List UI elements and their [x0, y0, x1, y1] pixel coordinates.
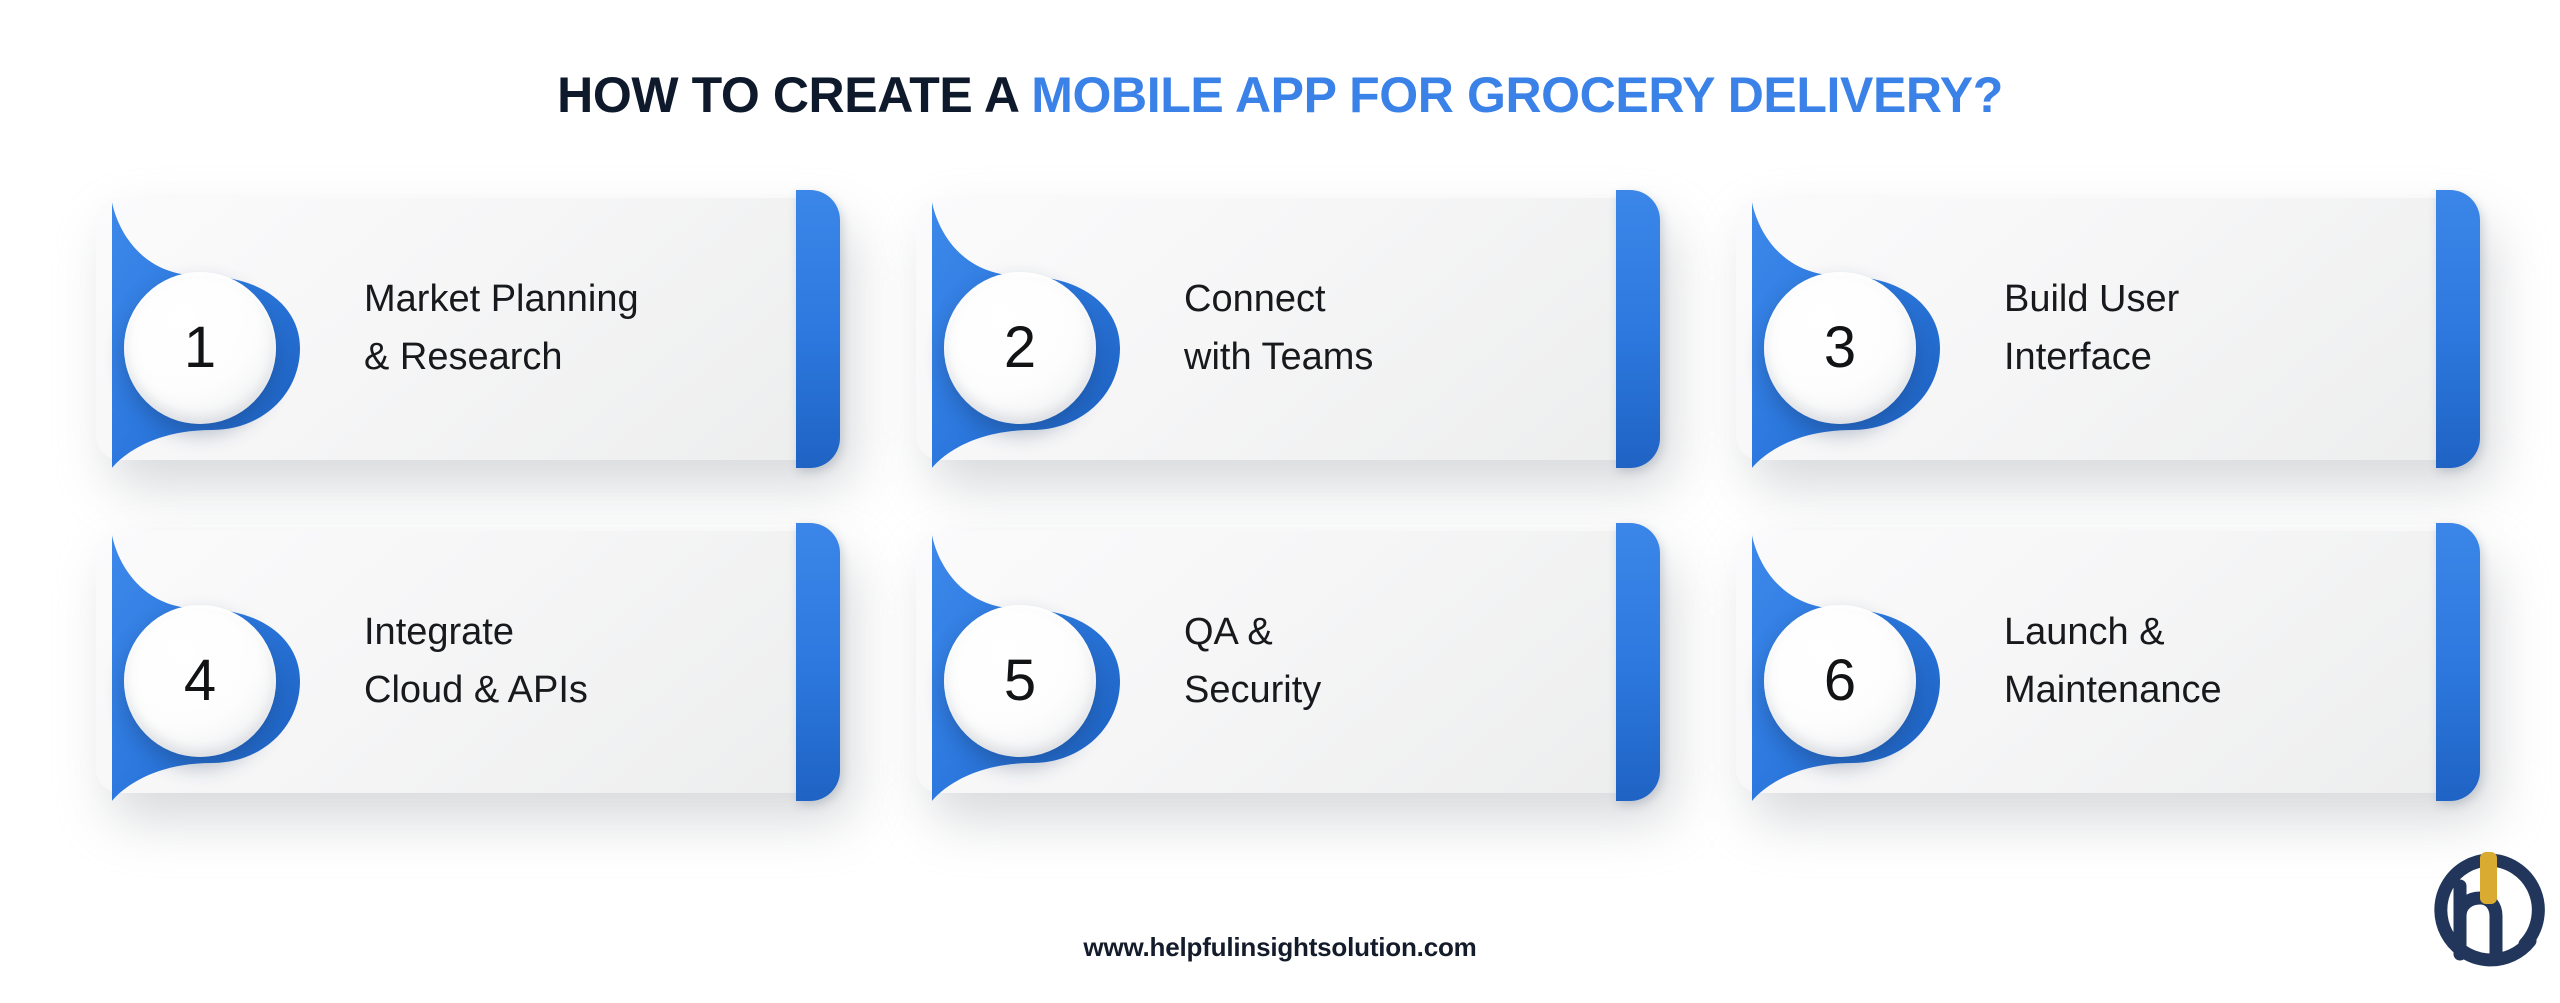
page-title-dark-part: HOW TO CREATE A [557, 67, 1031, 123]
step-text: Integrate Cloud & APIs [364, 531, 784, 793]
step-label-line1: QA & [1184, 604, 1604, 662]
card-accent-bar [1616, 190, 1660, 468]
step-card[interactable]: 4 Integrate Cloud & APIs [96, 531, 886, 821]
step-text: Market Planning & Research [364, 198, 784, 460]
step-text: Connect with Teams [1184, 198, 1604, 460]
step-number-circle: 3 [1764, 272, 1916, 424]
step-number-circle: 5 [944, 605, 1096, 757]
card-accent-bar [2436, 523, 2480, 801]
steps-grid: 1 Market Planning & Research [96, 198, 2496, 821]
infographic-page: HOW TO CREATE A MOBILE APP FOR GROCERY D… [0, 0, 2560, 1003]
step-text: Launch & Maintenance [2004, 531, 2424, 793]
step-text: QA & Security [1184, 531, 1604, 793]
step-label-line1: Launch & [2004, 604, 2424, 662]
step-label-line2: Security [1184, 662, 1604, 720]
step-card[interactable]: 1 Market Planning & Research [96, 198, 886, 488]
step-label-line2: Interface [2004, 329, 2424, 387]
step-number: 1 [184, 319, 216, 377]
step-number-circle: 4 [124, 605, 276, 757]
step-number: 3 [1824, 319, 1856, 377]
step-label-line2: with Teams [1184, 329, 1604, 387]
step-label-line2: & Research [364, 329, 784, 387]
brand-logo-icon [2424, 846, 2552, 976]
step-card[interactable]: 5 QA & Security [916, 531, 1706, 821]
card-accent-bar [796, 523, 840, 801]
footer-website-url[interactable]: www.helpfulinsightsolution.com [0, 932, 2560, 963]
step-card[interactable]: 3 Build User Interface [1736, 198, 2526, 488]
card-accent-bar [1616, 523, 1660, 801]
step-number-circle: 2 [944, 272, 1096, 424]
step-label-line1: Market Planning [364, 271, 784, 329]
step-number: 5 [1004, 652, 1036, 710]
step-card[interactable]: 6 Launch & Maintenance [1736, 531, 2526, 821]
step-label-line1: Connect [1184, 271, 1604, 329]
step-number: 4 [184, 652, 216, 710]
page-title-blue-part: MOBILE APP FOR GROCERY DELIVERY? [1031, 67, 2003, 123]
card-accent-bar [2436, 190, 2480, 468]
card-accent-bar [796, 190, 840, 468]
step-number-circle: 1 [124, 272, 276, 424]
step-card[interactable]: 2 Connect with Teams [916, 198, 1706, 488]
step-label-line1: Build User [2004, 271, 2424, 329]
step-label-line2: Maintenance [2004, 662, 2424, 720]
page-title: HOW TO CREATE A MOBILE APP FOR GROCERY D… [0, 68, 2560, 123]
step-label-line2: Cloud & APIs [364, 662, 784, 720]
step-label-line1: Integrate [364, 604, 784, 662]
step-number: 2 [1004, 319, 1036, 377]
step-number-circle: 6 [1764, 605, 1916, 757]
step-number: 6 [1824, 652, 1856, 710]
step-text: Build User Interface [2004, 198, 2424, 460]
